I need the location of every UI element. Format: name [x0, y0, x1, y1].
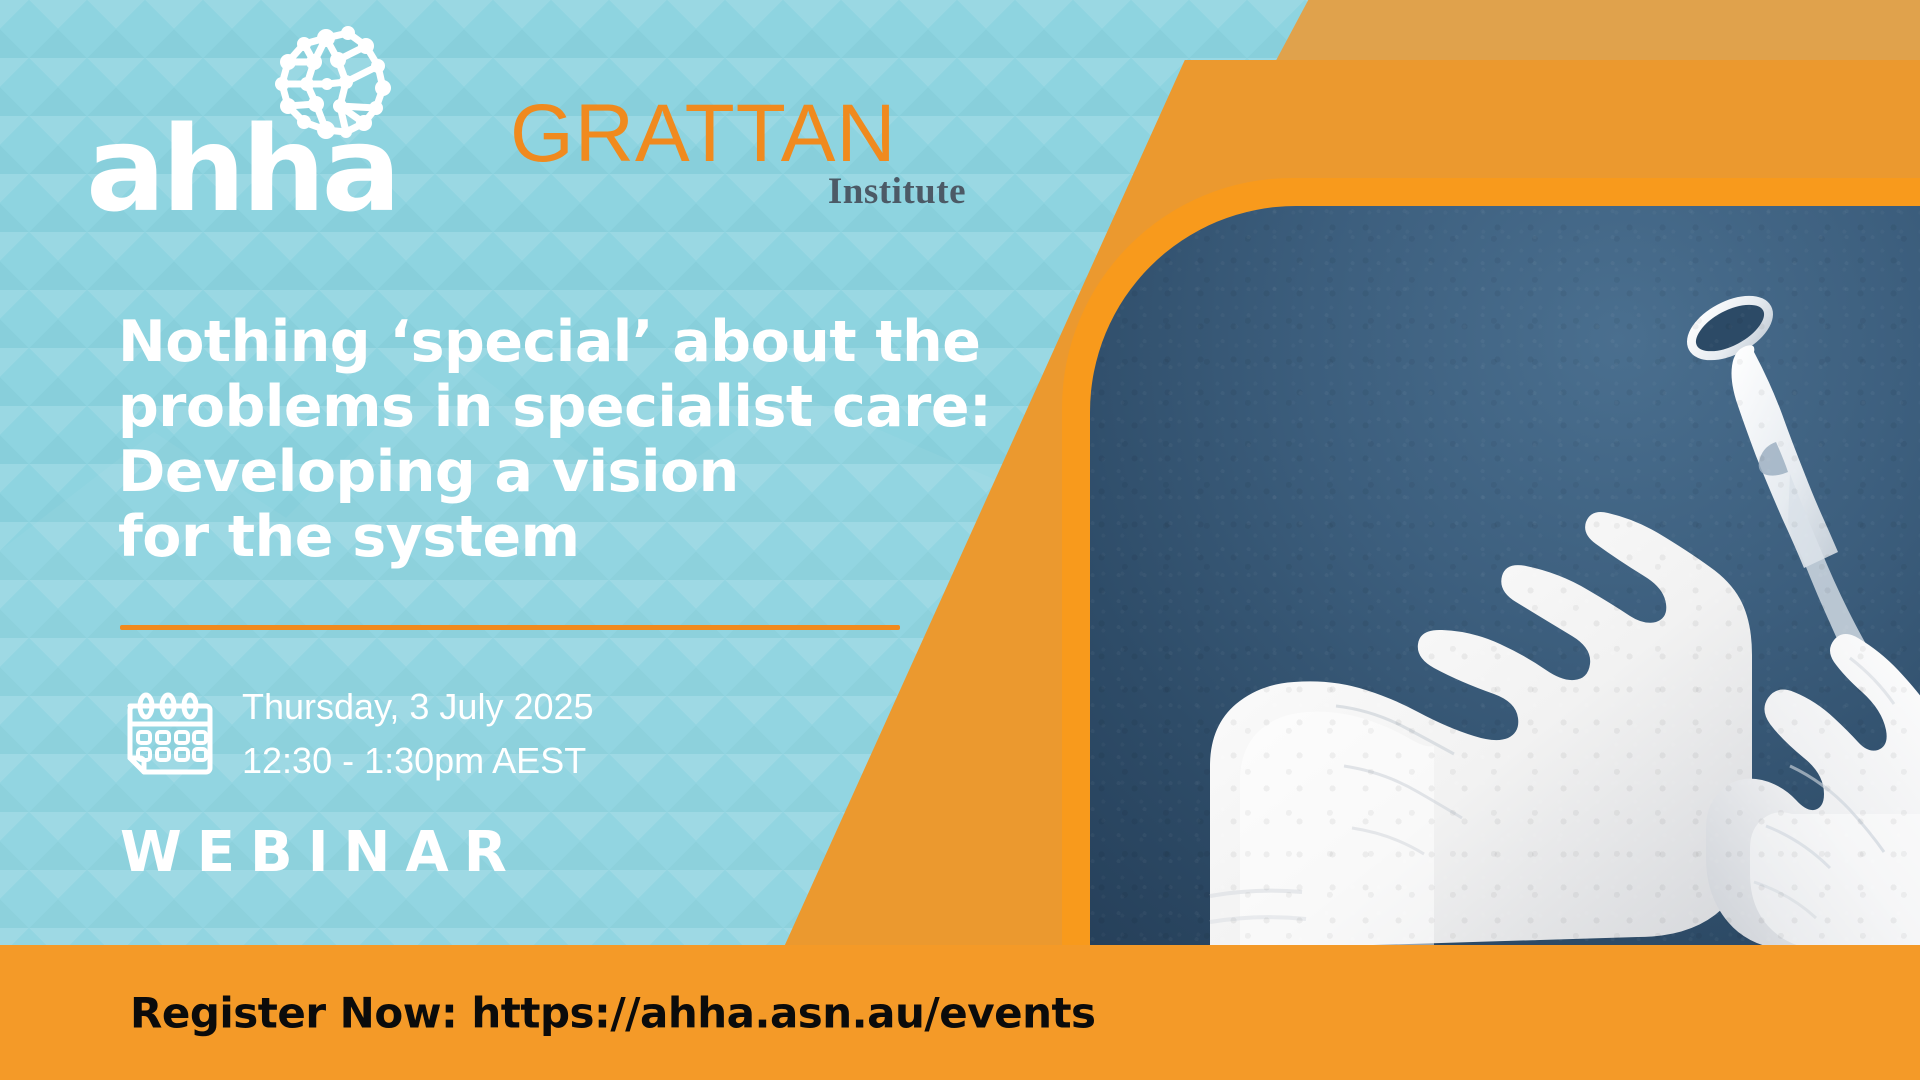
headline-line-3: Developing a vision [118, 440, 948, 505]
page-title: Nothing ‘special’ about the problems in … [118, 310, 948, 570]
register-cta[interactable]: Register Now: https://ahha.asn.au/events [130, 988, 1096, 1037]
headline-line-1: Nothing ‘special’ about the [118, 310, 948, 375]
photo-frame [1062, 178, 1920, 950]
grattan-wordmark: GRATTAN [510, 96, 970, 171]
ahha-logo: ahha [86, 22, 426, 212]
event-date: Thursday, 3 July 2025 [242, 680, 594, 734]
ahha-wordmark: ahha [86, 110, 397, 228]
event-datetime-text: Thursday, 3 July 2025 12:30 - 1:30pm AES… [242, 680, 594, 788]
event-format-label: WEBINAR [120, 820, 522, 885]
grattan-institute-logo: GRATTAN Institute [510, 96, 970, 216]
calendar-icon-svg [120, 686, 216, 782]
grattan-subtitle: Institute [828, 170, 966, 213]
footer-bar: Register Now: https://ahha.asn.au/events [0, 945, 1920, 1080]
event-time: 12:30 - 1:30pm AEST [242, 734, 594, 788]
dental-instruments-photo [1090, 206, 1920, 950]
headline-line-4: for the system [118, 505, 948, 570]
calendar-icon [120, 686, 216, 782]
divider-rule [120, 625, 900, 630]
headline-line-2: problems in specialist care: [118, 375, 948, 440]
photo-illustration [1090, 206, 1920, 950]
webinar-promo-banner: ahha GRATTAN Institute Nothing ‘special’… [0, 0, 1920, 1080]
left-gloved-hand [1210, 512, 1752, 950]
event-datetime-block: Thursday, 3 July 2025 12:30 - 1:30pm AES… [120, 680, 594, 788]
